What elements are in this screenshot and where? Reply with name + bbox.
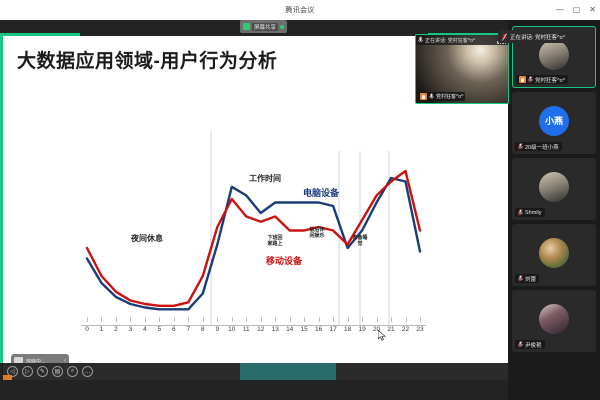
x-tick-label: 15 [301, 326, 308, 333]
x-tick [159, 317, 160, 322]
x-tick [145, 317, 146, 322]
x-tick-label: 21 [387, 326, 394, 333]
self-video-name-badge: 党村狂客^o^ [418, 92, 465, 101]
x-tick-label: 18 [344, 326, 351, 333]
participant-tile[interactable]: 刘蕾 [512, 224, 596, 286]
zoom-icon[interactable]: ⌕ [67, 366, 78, 377]
slides-grid-icon[interactable]: ▤ [52, 366, 63, 377]
x-tick [333, 317, 334, 322]
annotation-work-time: 工作时间 [249, 173, 281, 184]
x-tick [290, 317, 291, 322]
participant-tile[interactable]: 小燕20级一班小燕 [512, 92, 596, 154]
window-title: 腾讯会议 [285, 5, 314, 15]
x-axis-ticks: 01234567891011121314151617181920212223 [81, 317, 426, 347]
avatar [539, 40, 569, 70]
x-tick [319, 317, 320, 322]
participant-name: 刘蕾 [525, 275, 536, 283]
share-border-left [0, 33, 80, 36]
x-tick-label: 1 [100, 326, 104, 333]
legend-pc-devices: 电脑设备 [303, 186, 339, 199]
x-tick [304, 317, 305, 322]
x-tick [420, 317, 421, 322]
speaking-label: 正在讲话: 党村狂客^o^ [510, 33, 565, 41]
avatar [539, 238, 569, 268]
x-tick [362, 317, 363, 322]
participant-tile[interactable]: Shmily [512, 158, 596, 220]
x-tick-label: 23 [416, 326, 423, 333]
chart-svg [81, 131, 426, 331]
participant-name: 尹俊艳 [525, 341, 542, 349]
x-tick [174, 317, 175, 322]
annotation-sleep: 准备睡觉 [351, 235, 369, 248]
share-border-edge [0, 33, 3, 363]
avatar [539, 304, 569, 334]
participant-name: 党村狂客^o^ [535, 76, 565, 84]
presentation-floating-toolbar[interactable]: 放映中… ‹ [11, 354, 69, 363]
x-tick [232, 317, 233, 322]
x-tick [87, 317, 88, 322]
x-tick-label: 0 [85, 326, 89, 333]
mic-muted-icon [518, 209, 523, 216]
x-tick-label: 2 [114, 326, 118, 333]
x-tick-label: 13 [272, 326, 279, 333]
participant-name-badge: Shmily [515, 208, 545, 217]
x-tick-label: 3 [129, 326, 133, 333]
annotation-leisure: 饭后休闲娱乐 [308, 227, 326, 240]
annotation-commute-home: 下班回家路上 [266, 235, 284, 248]
x-tick-label: 14 [286, 326, 293, 333]
screen-share-label: 屏幕共享 [252, 23, 278, 31]
x-tick [130, 317, 131, 322]
participant-sidebar[interactable]: 党村狂客^o^小燕20级一班小燕Shmily刘蕾尹俊艳 [508, 20, 600, 400]
participant-name-badge: 党村狂客^o^ [516, 75, 568, 84]
x-tick-label: 7 [187, 326, 191, 333]
host-badge-icon [519, 76, 526, 83]
x-tick-label: 10 [228, 326, 235, 333]
mic-muted-icon [518, 275, 523, 282]
x-tick-label: 5 [158, 326, 162, 333]
self-video-tile[interactable]: 正在讲话: 党村狂客^o^ 党村狂客^o^ [415, 34, 509, 104]
self-video-speaking-label: 正在讲话: 党村狂客^o^ [425, 37, 495, 44]
participant-name-badge: 刘蕾 [515, 274, 539, 283]
participant-name: Shmily [525, 210, 542, 216]
x-tick-label: 9 [215, 326, 219, 333]
more-options-icon[interactable]: … [82, 366, 93, 377]
maximize-button[interactable]: ▢ [573, 6, 581, 14]
x-tick [246, 317, 247, 322]
participant-name: 20级一班小燕 [525, 143, 559, 151]
taskbar-orange-block [3, 375, 12, 380]
screen-share-icon [243, 23, 250, 30]
x-tick [261, 317, 262, 322]
self-video-top-bar: 正在讲话: 党村狂客^o^ [416, 35, 508, 45]
x-tick-label: 8 [201, 326, 205, 333]
avatar: 小燕 [539, 106, 569, 136]
self-video-name: 党村狂客^o^ [436, 93, 463, 100]
annotation-night-rest: 夜间休息 [131, 233, 163, 244]
pen-icon[interactable]: ✎ [37, 366, 48, 377]
window-title-bar: 腾讯会议 — ▢ ✕ [0, 0, 600, 20]
x-tick-label: 17 [330, 326, 337, 333]
user-behavior-chart: 01234567891011121314151617181920212223 夜… [81, 131, 426, 363]
x-tick-label: 6 [172, 326, 176, 333]
close-button[interactable]: ✕ [589, 6, 596, 14]
next-slide-icon[interactable]: ▷ [22, 366, 33, 377]
x-tick [275, 317, 276, 322]
legend-mobile-devices: 移动设备 [266, 254, 302, 267]
x-tick [377, 317, 378, 322]
x-tick-label: 22 [402, 326, 409, 333]
speaking-banner: 正在讲话: 党村狂客^o^ [498, 30, 569, 43]
x-tick [348, 317, 349, 322]
x-tick [406, 317, 407, 322]
recording-indicator-icon [280, 25, 284, 29]
slide-title: 大数据应用领域-用户行为分析 [17, 46, 277, 73]
participant-tile[interactable]: 尹俊艳 [512, 290, 596, 352]
mic-muted-icon [528, 76, 533, 83]
mic-muted-icon [502, 33, 507, 41]
x-tick-label: 19 [358, 326, 365, 333]
meeting-window: 腾讯会议 — ▢ ✕ 屏幕共享 大数据应用领域-用户行为分析 [0, 0, 600, 400]
x-tick [217, 317, 218, 322]
mic-muted-icon [518, 143, 523, 150]
mouse-cursor-icon [378, 330, 386, 341]
x-tick [203, 317, 204, 322]
x-tick-label: 12 [257, 326, 264, 333]
minimize-button[interactable]: — [556, 6, 564, 14]
x-tick-label: 11 [243, 326, 250, 333]
x-tick [188, 317, 189, 322]
x-tick [101, 317, 102, 322]
mic-muted-icon [518, 341, 523, 348]
avatar [539, 172, 569, 202]
taskbar-accent-block [240, 363, 336, 380]
screen-share-status-pill[interactable]: 屏幕共享 [240, 20, 287, 33]
host-badge-icon [420, 93, 427, 100]
x-tick [391, 317, 392, 322]
mic-muted-icon [429, 93, 434, 100]
x-tick-label: 4 [143, 326, 147, 333]
x-tick-label: 16 [315, 326, 322, 333]
window-controls: — ▢ ✕ [556, 0, 596, 20]
participant-name-badge: 20级一班小燕 [515, 142, 562, 151]
participant-name-badge: 尹俊艳 [515, 340, 545, 349]
x-tick [116, 317, 117, 322]
mic-icon [418, 36, 423, 44]
